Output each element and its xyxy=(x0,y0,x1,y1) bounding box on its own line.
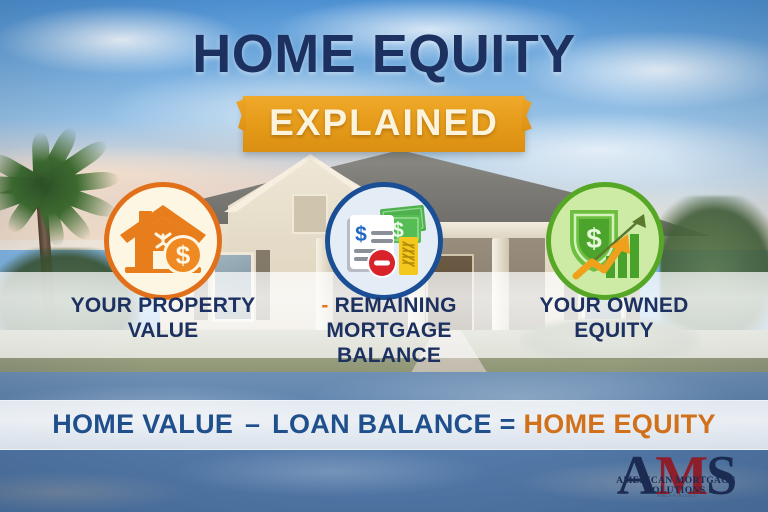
label-mortgage-balance: - REMAINING MORTGAGE BALANCE xyxy=(283,294,495,368)
logo-tagline: NMLS #1621953 xyxy=(592,494,760,499)
formula-term-loan-balance: LOAN BALANCE xyxy=(272,409,492,439)
formula-minus-sign: – xyxy=(241,409,264,439)
svg-text:$: $ xyxy=(355,223,367,246)
label-line1: YOUR OWNED xyxy=(540,294,689,317)
label-line2: EQUITY xyxy=(574,319,653,342)
ams-logo: AMS AMERICAN MORTGAGE SOLUTIONS NMLS #16… xyxy=(592,452,760,504)
subtitle-wrapper: EXPLAINED xyxy=(0,96,768,152)
formula-equals-sign: = xyxy=(500,409,516,439)
icon-circle-mortgage-balance: $ $ xyxy=(325,182,443,300)
svg-text:$: $ xyxy=(176,240,191,270)
subtitle-text: EXPLAINED xyxy=(269,102,499,143)
label-line2: MORTGAGE BALANCE xyxy=(326,319,451,367)
logo-wordmark: AMERICAN MORTGAGE SOLUTIONS xyxy=(592,476,760,496)
label-row: YOUR PROPERTY VALUE - REMAINING MORTGAGE… xyxy=(0,288,768,350)
icon-circle-property-value: $ xyxy=(104,182,222,300)
icon-circle-owned-equity: $ xyxy=(546,182,664,300)
mortgage-statement-minus-icon: $ $ xyxy=(337,201,431,281)
formula-term-home-value: HOME VALUE xyxy=(52,409,233,439)
equity-shield-growth-chart-icon: $ xyxy=(558,200,652,282)
equity-formula: HOME VALUE – LOAN BALANCE = HOME EQUITY xyxy=(0,409,768,440)
subtitle-banner: EXPLAINED xyxy=(243,96,525,152)
page-title: HOME EQUITY xyxy=(0,26,768,83)
infographic-canvas: HOME EQUITY EXPLAINED xyxy=(0,0,768,512)
minus-operator: - xyxy=(321,294,328,317)
svg-text:$: $ xyxy=(586,223,602,254)
label-line1: REMAINING xyxy=(335,294,457,317)
label-property-value: YOUR PROPERTY VALUE xyxy=(58,294,268,344)
icon-row: $ $ xyxy=(0,182,768,288)
house-with-dollar-coin-icon: $ xyxy=(117,201,209,281)
label-line1: YOUR PROPERTY xyxy=(71,294,256,317)
label-owned-equity: YOUR OWNED EQUITY xyxy=(508,294,720,344)
label-line2: VALUE xyxy=(128,319,199,342)
formula-result-home-equity: HOME EQUITY xyxy=(523,409,715,439)
